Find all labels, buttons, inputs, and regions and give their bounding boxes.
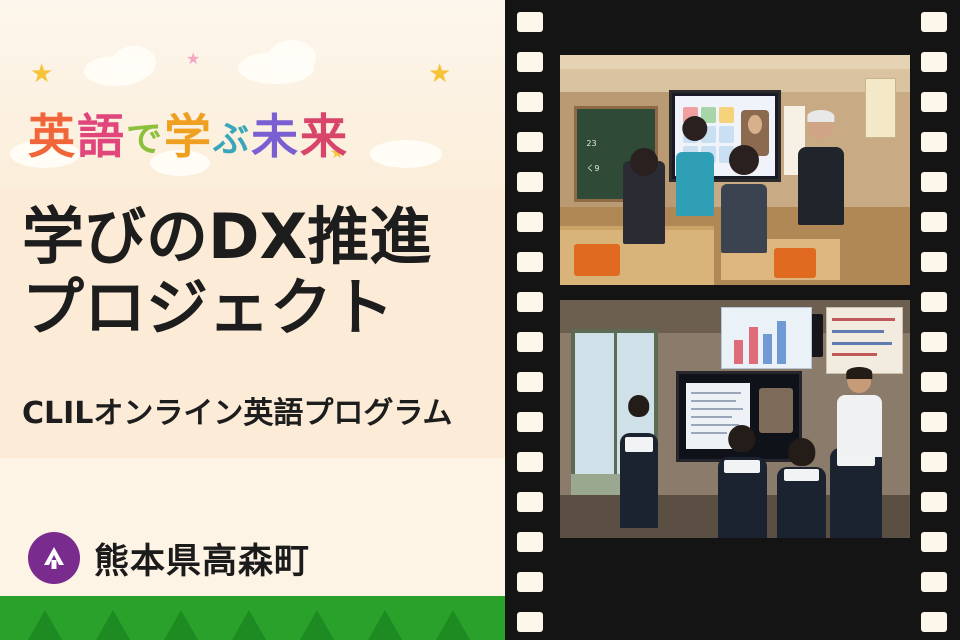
- film-perforation: [921, 492, 947, 512]
- title-line-2: プロジェクト: [22, 273, 515, 344]
- title-line-1: 学びのDX推進: [22, 202, 515, 273]
- film-perforation: [517, 132, 543, 152]
- grass-decoration: [0, 596, 515, 640]
- film-perforation: [517, 172, 543, 192]
- student-figure-standing: [676, 152, 715, 216]
- film-perforation: [921, 372, 947, 392]
- star-icon: ★: [30, 60, 53, 86]
- film-perforation: [517, 52, 543, 72]
- headline-char-6: 未: [251, 98, 300, 167]
- teacher-figure: [798, 147, 844, 225]
- film-perforation: [921, 452, 947, 472]
- film-perforation: [921, 92, 947, 112]
- star-icon: ★: [428, 60, 451, 86]
- film-perforation: [517, 532, 543, 552]
- student-figure: [830, 448, 883, 538]
- chalkboard-text-1: 23: [586, 139, 596, 148]
- film-perforation: [517, 12, 543, 32]
- film-perforation: [921, 52, 947, 72]
- main-title: 学びのDX推進 プロジェクト: [0, 196, 515, 343]
- film-perforation: [921, 252, 947, 272]
- film-perforation: [921, 12, 947, 32]
- film-perforation: [517, 412, 543, 432]
- takamori-town-crest-icon: [28, 532, 80, 584]
- wall-chart: [721, 307, 812, 369]
- town-name: 熊本県高森町: [94, 533, 310, 584]
- student-figure: [623, 161, 665, 184]
- film-perforation: [517, 452, 543, 472]
- classroom-photo-juniorhigh: [560, 300, 910, 538]
- footer-logo-row: 熊本県高森町: [28, 532, 310, 584]
- headline-char-7: 来: [300, 98, 349, 167]
- cloud-decoration: [268, 40, 316, 76]
- film-perforation: [921, 212, 947, 232]
- student-figure: [623, 175, 665, 244]
- film-strip: 23 く9: [505, 0, 960, 640]
- film-perforation: [517, 292, 543, 312]
- headline-char-1: 英: [28, 98, 77, 167]
- wall-poster: [865, 78, 897, 138]
- film-perforation: [921, 572, 947, 592]
- film-perforation: [921, 292, 947, 312]
- film-perforation: [921, 532, 947, 552]
- film-perforation: [517, 252, 543, 272]
- headline-top: 英 語 で 学 ぶ 未 来: [28, 92, 488, 172]
- left-content-panel: ★ ★ ★ ★ 英 語 で 学 ぶ 未 来 学びのDX推進 プロジェクト CLI…: [0, 0, 515, 640]
- film-perforation: [921, 132, 947, 152]
- film-perforation: [921, 412, 947, 432]
- film-perforation: [517, 212, 543, 232]
- student-figure: [620, 433, 659, 528]
- film-perforation: [517, 372, 543, 392]
- star-icon: ★: [186, 52, 200, 68]
- classroom-photo-elementary: 23 く9: [560, 55, 910, 285]
- film-perforation: [921, 332, 947, 352]
- film-perforation: [517, 332, 543, 352]
- wall-poster: [826, 307, 903, 374]
- subtitle: CLILオンライン英語プログラム: [22, 388, 453, 432]
- headline-char-3: で: [126, 110, 164, 162]
- student-figure: [777, 467, 826, 538]
- student-figure: [718, 457, 767, 538]
- poster-root: ★ ★ ★ ★ 英 語 で 学 ぶ 未 来 学びのDX推進 プロジェクト CLI…: [0, 0, 960, 640]
- student-figure: [721, 184, 767, 253]
- film-perforation: [517, 92, 543, 112]
- headline-char-5: ぶ: [213, 110, 251, 162]
- film-perforation: [921, 612, 947, 632]
- film-perforation: [517, 612, 543, 632]
- film-perforation: [517, 572, 543, 592]
- cloud-decoration: [112, 46, 156, 80]
- film-perforation: [517, 492, 543, 512]
- film-perforation: [921, 172, 947, 192]
- chalkboard-text-2: く9: [586, 163, 599, 174]
- teacher-figure: [837, 395, 883, 457]
- headline-char-2: 語: [77, 98, 126, 167]
- headline-char-4: 学: [164, 98, 213, 167]
